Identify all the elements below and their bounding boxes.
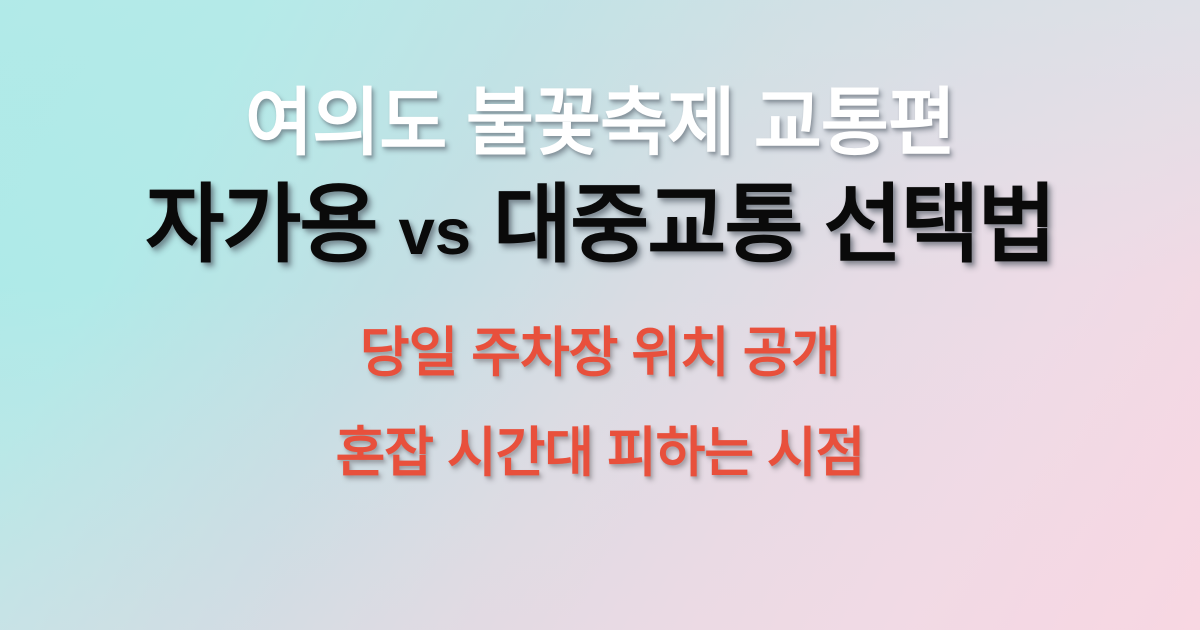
subline-congestion-timing: 혼잡 시간대 피하는 시점: [336, 426, 865, 480]
headline-primary: 여의도 불꽃축제 교통편: [245, 86, 955, 160]
headline-secondary-part-before-vs: 자가용: [145, 177, 398, 273]
subline-parking-location: 당일 주차장 위치 공개: [360, 326, 840, 380]
thumbnail-card: 여의도 불꽃축제 교통편 자가용 vs 대중교통 선택법 당일 주차장 위치 공…: [0, 0, 1200, 630]
headline-secondary-vs-token: vs: [398, 195, 471, 268]
headline-secondary-part-after-vs: 대중교통 선택법: [471, 177, 1055, 273]
headline-secondary: 자가용 vs 대중교통 선택법: [145, 182, 1055, 268]
text-stack: 여의도 불꽃축제 교통편 자가용 vs 대중교통 선택법 당일 주차장 위치 공…: [0, 0, 1200, 630]
